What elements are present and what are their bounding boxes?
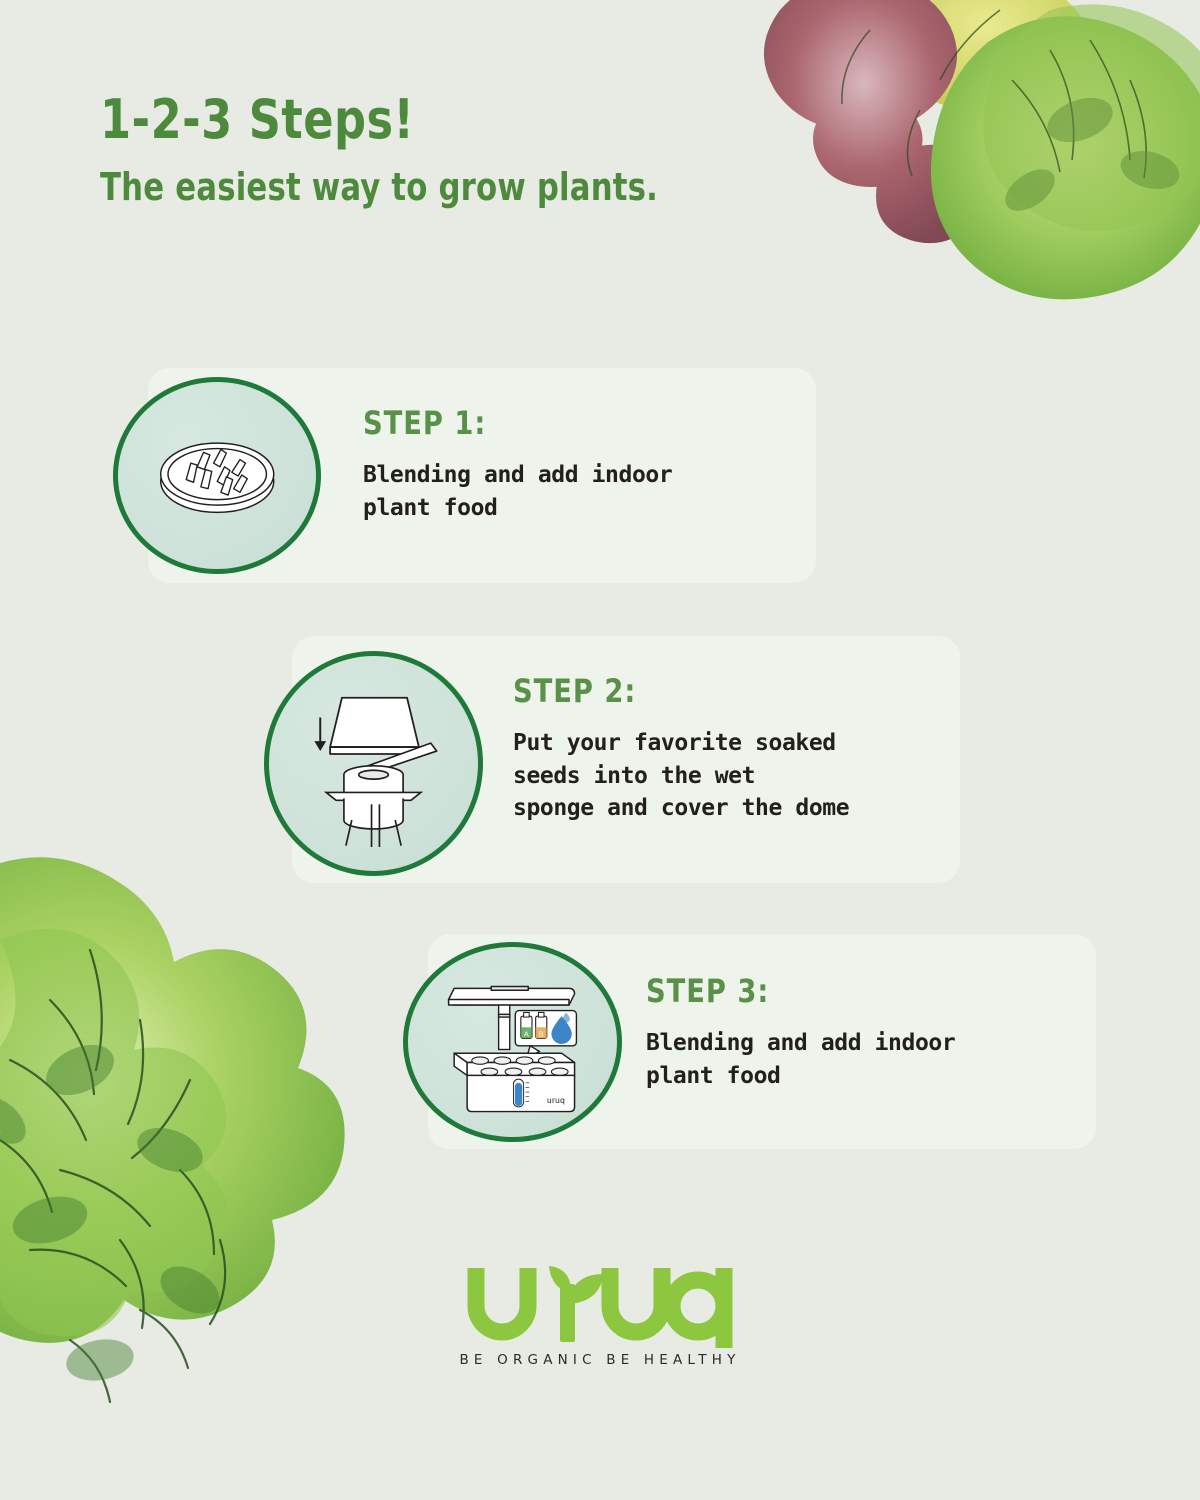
nutrient-bottle-b: B (536, 1012, 547, 1038)
svg-text:A: A (524, 1029, 529, 1038)
uruq-sprout-logo (464, 1262, 736, 1348)
step-text-1: STEP 1: Blending and add indoor plant fo… (363, 404, 672, 524)
brand-tagline: BE ORGANIC BE HEALTHY (0, 1352, 1200, 1368)
step-heading-3: STEP 3: (646, 972, 940, 1010)
step-icon-circle-1 (113, 377, 321, 574)
step-heading-1: STEP 1: (363, 404, 657, 442)
device-brand-label: uruq (547, 1095, 565, 1105)
step-body-2: Put your favorite soaked seeds into the … (513, 727, 849, 825)
step-icon-circle-3: A B (403, 942, 622, 1142)
seed-tray-icon (140, 403, 294, 549)
lettuce-illustration-top-right (750, 0, 1200, 370)
nutrient-bottle-a: A (521, 1012, 532, 1038)
down-arrow-icon (314, 717, 326, 751)
step-body-1: Blending and add indoor plant food (363, 459, 672, 524)
page-subtitle: The easiest way to grow plants. (100, 165, 658, 209)
step-text-3: STEP 3: Blending and add indoor plant fo… (646, 972, 955, 1092)
subtitle-emphasis: easiest (175, 165, 301, 209)
subtitle-after: way to grow plants. (301, 165, 658, 209)
svg-text:B: B (539, 1029, 544, 1038)
step-text-2: STEP 2: Put your favorite soaked seeds i… (513, 672, 849, 825)
brand-lockup: BE ORGANIC BE HEALTHY (0, 1262, 1200, 1368)
subtitle-before: The (100, 165, 175, 209)
page-title: 1-2-3 Steps! (100, 92, 670, 149)
sprout-glyph (549, 1266, 603, 1342)
step-heading-2: STEP 2: (513, 672, 832, 710)
step-body-3: Blending and add indoor plant food (646, 1027, 955, 1092)
hydroponic-device-icon: A B (431, 968, 594, 1116)
step-icon-circle-2 (264, 651, 483, 876)
header: 1-2-3 Steps! The easiest way to grow pla… (100, 92, 720, 209)
dome-and-tweezers-icon (292, 680, 455, 848)
